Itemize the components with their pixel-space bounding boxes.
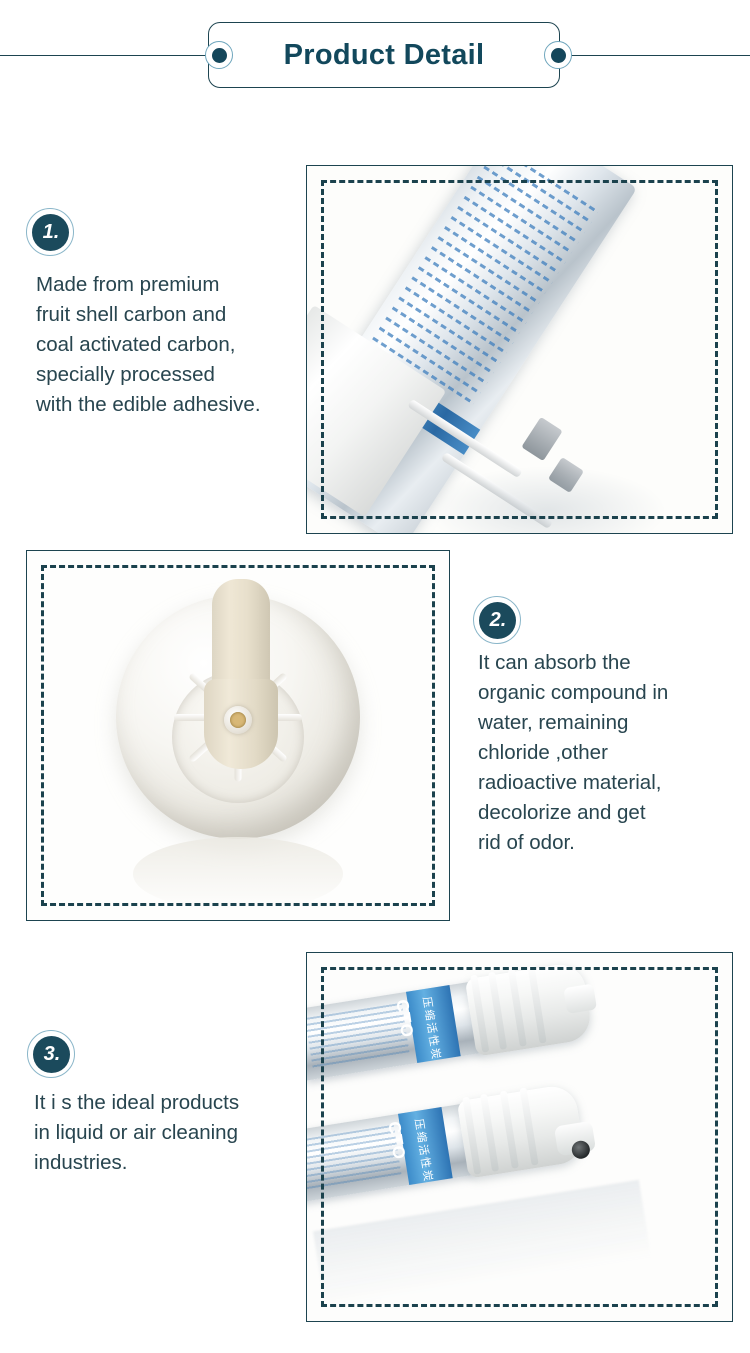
photo-2-content (27, 551, 449, 920)
bullet-dot-left-icon (205, 41, 233, 69)
step-badge-3-number: 3. (33, 1036, 70, 1073)
bullet-dot-right-icon (544, 41, 572, 69)
photo-1-content (307, 166, 732, 533)
product-photo-3: CTO 压缩活性炭 CTO 压缩活性炭 (306, 952, 733, 1322)
step-badge-3: 3. (27, 1030, 75, 1078)
step-badge-2-number: 2. (479, 602, 516, 639)
step-badge-1: 1. (26, 208, 74, 256)
header-rule-right (570, 55, 750, 56)
page-title: Product Detail (208, 22, 560, 88)
cartridge-top-graphic: CTO 压缩活性炭 (306, 1009, 307, 1080)
photo-3-content: CTO 压缩活性炭 CTO 压缩活性炭 (307, 953, 732, 1321)
page-header: Product Detail (0, 0, 750, 112)
step-badge-2: 2. (473, 596, 521, 644)
filter-outlet-mesh (230, 712, 246, 728)
step-badge-1-number: 1. (32, 214, 69, 251)
product-photo-2 (26, 550, 450, 921)
feature-text-3: It i s the ideal products in liquid or a… (34, 1088, 302, 1178)
product-photo-1 (306, 165, 733, 534)
feature-text-1: Made from premium fruit shell carbon and… (36, 270, 304, 420)
feature-text-2: It can absorb the organic compound in wa… (478, 648, 740, 858)
header-rule-left (0, 55, 218, 56)
